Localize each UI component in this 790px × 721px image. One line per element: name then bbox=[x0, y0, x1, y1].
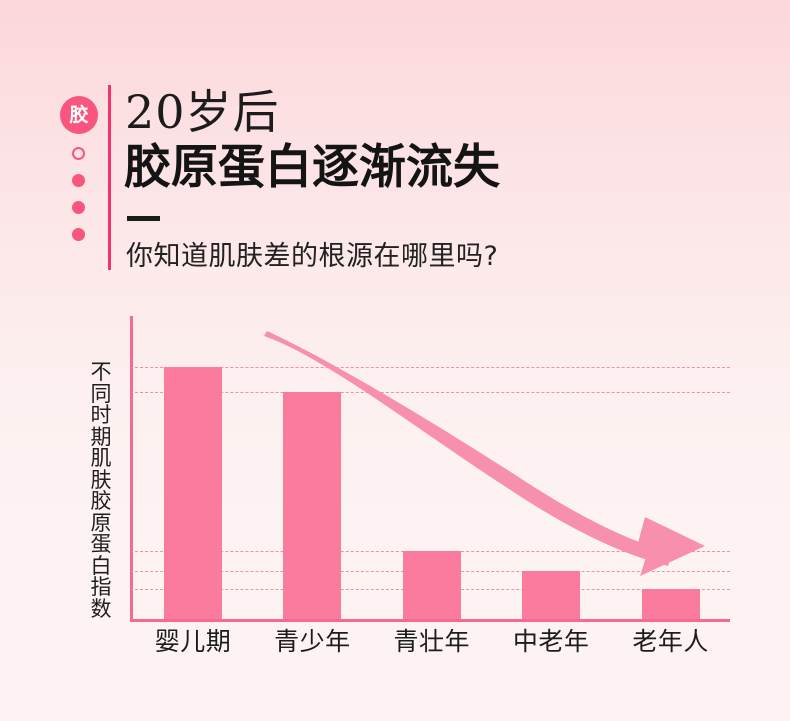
bar-青少年 bbox=[283, 392, 341, 619]
x-axis-tick-label: 中老年 bbox=[491, 627, 611, 657]
y-axis-label-char: 指 bbox=[88, 577, 114, 599]
bar-婴儿期 bbox=[164, 367, 222, 620]
y-axis-label-char: 同 bbox=[88, 384, 114, 406]
x-axis-tick-label: 青壮年 bbox=[372, 627, 492, 657]
y-axis-label-char: 数 bbox=[88, 599, 114, 621]
plot-area bbox=[133, 316, 730, 619]
y-axis-label-char: 不 bbox=[88, 362, 114, 384]
y-axis-label-char: 白 bbox=[88, 556, 114, 578]
poster-canvas: 胶 20岁后 胶原蛋白逐渐流失 你知道肌肤差的根源在哪里吗? 不同时期肌肤胶原蛋… bbox=[0, 0, 790, 721]
bar-中老年 bbox=[522, 571, 580, 619]
x-axis-tick-label: 老年人 bbox=[611, 627, 731, 657]
y-axis-label-char: 蛋 bbox=[88, 534, 114, 556]
y-axis-label-char: 肤 bbox=[88, 470, 114, 492]
collagen-bar-chart: 不同时期肌肤胶原蛋白指数 婴儿期青少年青壮年中老年老年人 bbox=[0, 0, 790, 721]
x-axis-line bbox=[130, 619, 730, 622]
y-axis-label-char: 时 bbox=[88, 405, 114, 427]
bar-老年人 bbox=[642, 589, 700, 619]
y-axis-label-char: 原 bbox=[88, 513, 114, 535]
y-axis-label-char: 期 bbox=[88, 427, 114, 449]
x-axis-tick-label: 婴儿期 bbox=[133, 627, 253, 657]
x-axis-tick-label: 青少年 bbox=[252, 627, 372, 657]
y-axis-label-char: 肌 bbox=[88, 448, 114, 470]
y-axis-label-char: 胶 bbox=[88, 491, 114, 513]
bar-青壮年 bbox=[403, 551, 461, 619]
y-axis-line bbox=[130, 316, 133, 619]
y-axis-label: 不同时期肌肤胶原蛋白指数 bbox=[88, 362, 114, 620]
